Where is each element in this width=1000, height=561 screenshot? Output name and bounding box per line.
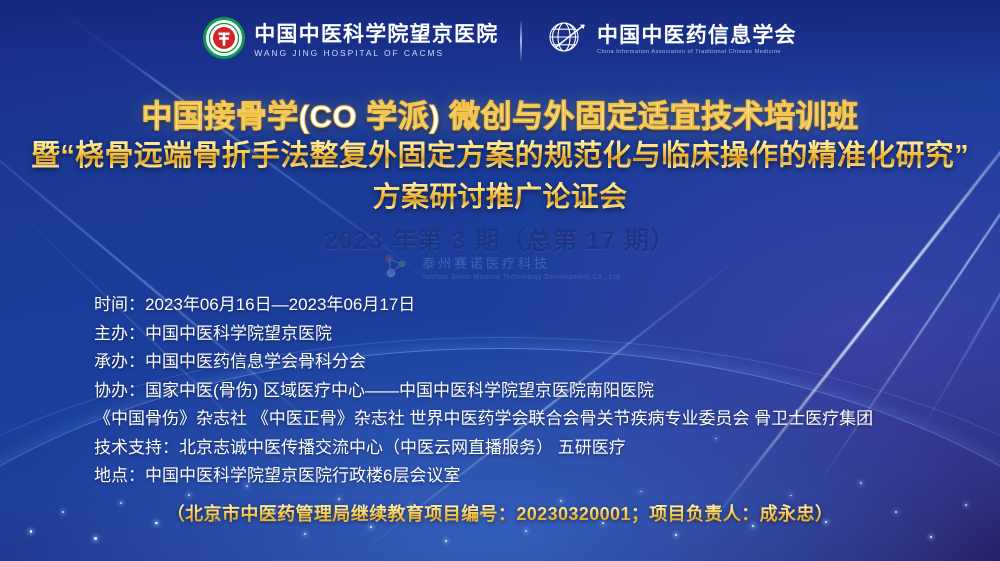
organization-logos: 中国中医科学院望京医院 WANG JING HOSPITAL OF CACMS — [0, 17, 1000, 64]
wangjing-hospital-seal-icon — [203, 17, 245, 64]
wangjing-hospital-name: 中国中医科学院望京医院 WANG JING HOSPITAL OF CACMS — [254, 24, 498, 58]
info-line-tech-support: 技术支持：北京志诚中医传播交流中心（中医云网直播服务） 五研医疗 — [94, 434, 873, 463]
particle-dot — [370, 526, 372, 528]
title-line-2: 暨“桡骨远端骨折手法整复外固定方案的规范化与临床操作的精准化研究” — [0, 138, 1000, 175]
watermark-en: Taizhou Sinon Medical Technology Develop… — [422, 274, 620, 282]
tcm-association-name: 中国中医药信息学会 China Information Association … — [597, 25, 797, 56]
logo-cn-name: 中国中医药信息学会 — [597, 25, 797, 46]
particle-dot — [790, 495, 792, 497]
title-line-3: 方案研讨推广论证会 — [0, 179, 1000, 215]
info-line-partners: 《中国骨伤》杂志社 《中医正骨》杂志社 世界中医药学会联合会骨关节疾病专业委员会… — [94, 405, 873, 434]
title-block: 中国接骨学(CO 学派) 微创与外固定适宜技术培训班 暨“桡骨远端骨折手法整复外… — [0, 99, 1000, 257]
footer-block: （北京市中医药管理局继续教育项目编号：20230320001；项目负责人：成永忠… — [0, 500, 1000, 526]
logo-wangjing-hospital: 中国中医科学院望京医院 WANG JING HOSPITAL OF CACMS — [203, 17, 498, 64]
logo-en-name: WANG JING HOSPITAL OF CACMS — [254, 49, 498, 57]
issue-number: 2023 年第 3 期（总第 17 期） — [0, 221, 1000, 257]
sponsor-watermark: 泰州赛诺医疗科技 Taizhou Sinon Medical Technolog… — [0, 252, 1000, 287]
particle-dot — [675, 534, 677, 536]
particle-dot — [304, 533, 306, 535]
info-line-host: 主办：中国中医科学院望京医院 — [94, 320, 873, 349]
particle-dot — [188, 494, 190, 496]
particle-dot — [640, 491, 642, 493]
project-number-note: （北京市中医药管理局继续教育项目编号：20230320001；项目负责人：成永忠… — [167, 500, 834, 526]
logo-divider — [520, 21, 522, 61]
logo-tcm-information-association: 中国中医药信息学会 China Information Association … — [544, 17, 797, 64]
logo-en-name: China Information Association of Traditi… — [597, 50, 797, 55]
globe-meridian-icon — [544, 17, 588, 64]
title-line-1: 中国接骨学(CO 学派) 微创与外固定适宜技术培训班 — [0, 99, 1000, 136]
particle-dot — [30, 530, 32, 532]
event-details: 时间：2023年06月16日—2023年06月17日 主办：中国中医科学院望京医… — [94, 291, 873, 491]
info-line-organizer: 承办：中国中医药信息学会骨科分会 — [94, 348, 873, 377]
particle-dot — [930, 536, 932, 538]
particle-dot — [525, 530, 527, 532]
particle-dot — [94, 537, 97, 540]
info-line-venue: 地点：中国中医科学院望京医院行政楼6层会议室 — [94, 462, 873, 491]
info-line-time: 时间：2023年06月16日—2023年06月17日 — [94, 291, 873, 320]
watermark-cn: 泰州赛诺医疗科技 — [422, 257, 620, 271]
conference-banner: 中国中医科学院望京医院 WANG JING HOSPITAL OF CACMS — [0, 0, 1000, 561]
particle-dot — [445, 540, 447, 542]
taizhou-logo-watermark-icon — [380, 252, 414, 287]
info-line-coorganizer: 协办：国家中医(骨伤) 区域医疗中心——中国中医科学院望京医院南阳医院 — [94, 377, 873, 406]
logo-cn-name: 中国中医科学院望京医院 — [254, 24, 498, 45]
